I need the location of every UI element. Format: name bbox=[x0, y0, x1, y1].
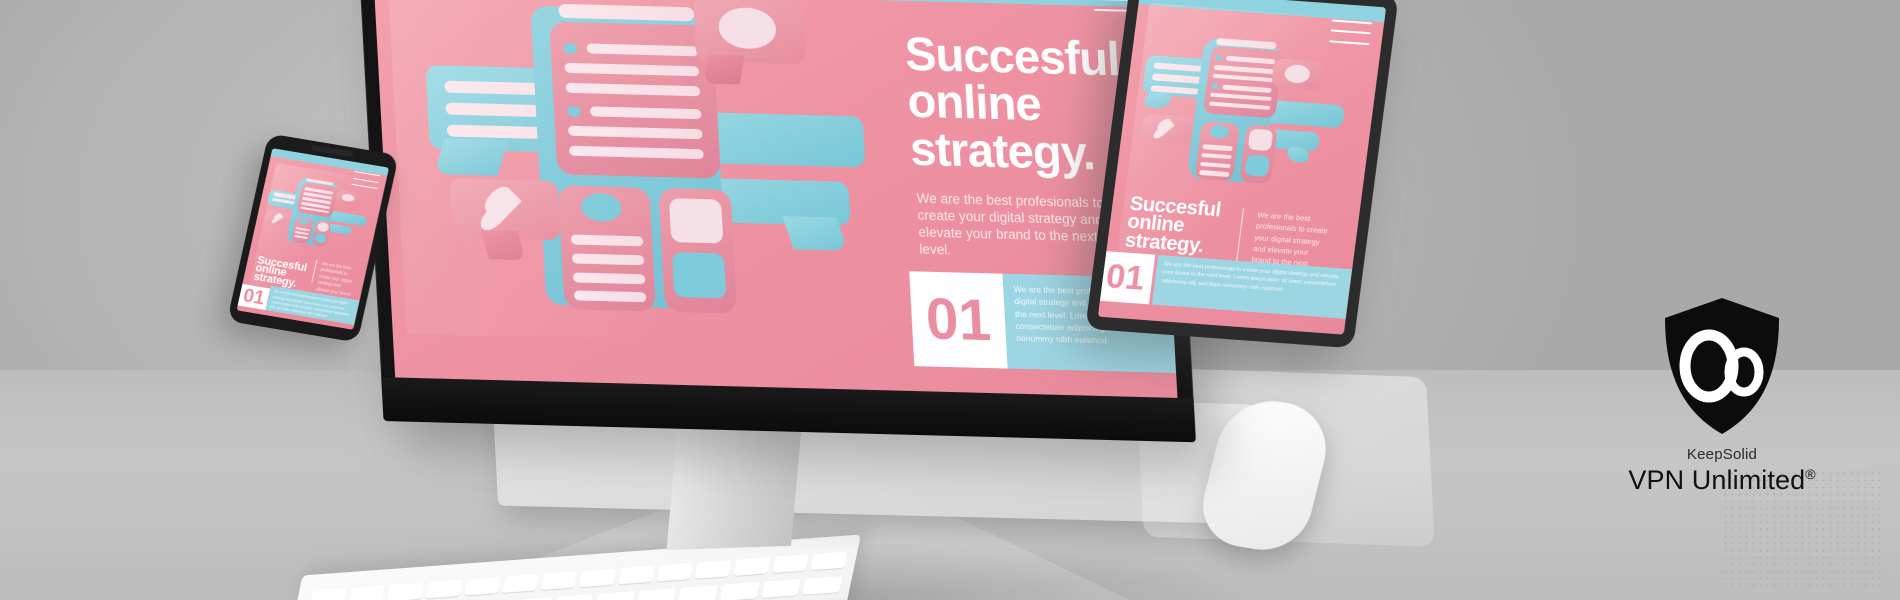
illustration-tile-teal bbox=[672, 252, 727, 298]
illustration-line bbox=[565, 63, 699, 76]
screen-glare bbox=[1111, 3, 1374, 321]
poster-desktop: Succesful online strategy. We are the be… bbox=[373, 0, 1178, 398]
logo-product-name: VPN Unlimited® bbox=[1628, 465, 1815, 496]
illustration-card-bottom-left bbox=[558, 185, 655, 311]
illustration-dot bbox=[567, 106, 581, 117]
illustration-line bbox=[590, 106, 702, 119]
logo-brand-name: KeepSolid bbox=[1687, 446, 1757, 463]
heart-icon bbox=[487, 189, 522, 224]
monitor-screen[interactable]: Succesful online strategy. We are the be… bbox=[373, 0, 1178, 398]
logo-trademark: ® bbox=[1805, 466, 1815, 482]
tablet-screen[interactable]: Succesful online strategy. We are the be… bbox=[1098, 0, 1386, 335]
illustration-tile-white bbox=[669, 198, 724, 244]
illustration-line bbox=[587, 44, 699, 57]
illustration-line bbox=[569, 146, 703, 159]
monitor-stand-neck bbox=[667, 428, 802, 550]
logo-product-text: VPN Unlimited bbox=[1628, 465, 1805, 495]
desktop-monitor[interactable]: Succesful online strategy. We are the be… bbox=[358, 0, 1196, 442]
tablet-device[interactable]: Succesful online strategy. We are the be… bbox=[1085, 0, 1399, 348]
smartphone-device[interactable]: Succesful online strategy. We are the be… bbox=[227, 133, 399, 342]
illustration-line bbox=[568, 126, 702, 139]
poster-number-badge: 01 bbox=[909, 271, 1008, 369]
illustration-line bbox=[566, 83, 700, 96]
illustration-dot-large bbox=[581, 193, 622, 221]
illustration-line bbox=[570, 235, 643, 247]
poster-headline-line3: strategy. bbox=[909, 127, 1096, 176]
banner-stage: Succesful online strategy. We are the be… bbox=[0, 0, 1900, 600]
speech-bubble-tail bbox=[704, 55, 745, 85]
poster-number-label: 01 bbox=[924, 290, 992, 350]
illustration-line bbox=[571, 253, 644, 265]
illustration-line bbox=[572, 272, 645, 284]
vpn-logo-block: KeepSolid VPN Unlimited® bbox=[1594, 296, 1850, 546]
illustration-card-bottom-right bbox=[658, 188, 737, 314]
speech-bubble-tail bbox=[434, 139, 507, 177]
illustration-dot bbox=[564, 43, 578, 54]
illustration-cluster bbox=[421, 0, 894, 357]
illustration-line bbox=[573, 291, 646, 303]
shield-infinity-icon bbox=[1661, 296, 1783, 436]
poster-headline-line2: online bbox=[906, 79, 1042, 127]
speech-bubble-tail bbox=[481, 230, 525, 260]
speech-bubble-tail bbox=[782, 216, 848, 250]
chat-icon bbox=[718, 7, 777, 49]
poster-subheading: We are the best profesionals to create y… bbox=[916, 191, 1111, 263]
